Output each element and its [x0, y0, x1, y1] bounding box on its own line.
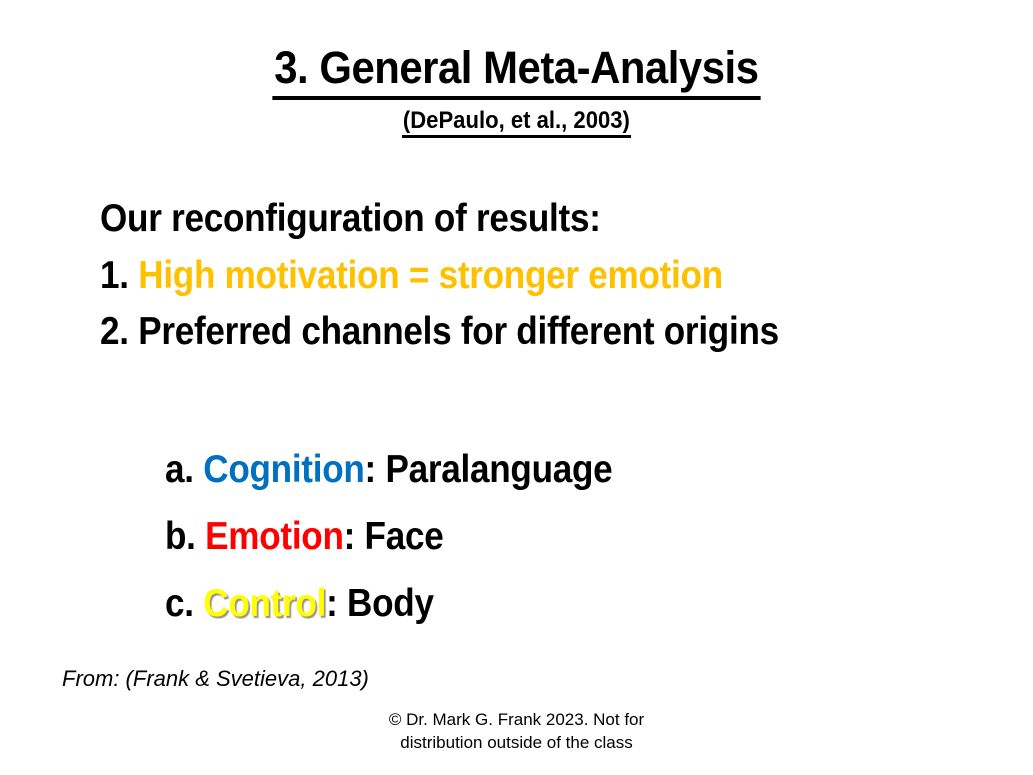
copyright-line-1: © Dr. Mark G. Frank 2023. Not for: [0, 708, 1033, 731]
list-item-1-marker: 1.: [100, 254, 129, 297]
list-item-1-inner: 1. High motivation = stronger emotion: [100, 247, 723, 304]
space: [194, 582, 203, 625]
subitem-c-inner: c. Control: Body: [165, 570, 434, 637]
subitem-b-highlight: Emotion: [205, 515, 344, 558]
slide-subitems: a. Cognition: Paralanguage b. Emotion: F…: [165, 436, 1005, 637]
list-item: b. Emotion: Face: [165, 503, 1005, 570]
subitem-c-marker: c.: [165, 582, 194, 625]
space: [196, 515, 205, 558]
slide-subtitle-citation: (DePaulo, et al., 2003): [402, 108, 631, 138]
space: [129, 310, 138, 353]
body-intro-line: Our reconfiguration of results:: [100, 190, 1000, 247]
list-item: a. Cognition: Paralanguage: [165, 436, 1005, 503]
list-item: 1. High motivation = stronger emotion: [100, 247, 1000, 304]
subitem-a-rest: Paralanguage: [376, 448, 612, 491]
slide-canvas: 3. General Meta-Analysis (DePaulo, et al…: [0, 0, 1033, 775]
subitem-a-highlight: Cognition: [203, 448, 364, 491]
list-item: 2. Preferred channels for different orig…: [100, 304, 890, 360]
body-intro-text: Our reconfiguration of results:: [100, 190, 601, 247]
list-item-2-marker: 2.: [100, 310, 129, 353]
subitem-b-inner: b. Emotion: Face: [165, 503, 443, 570]
subitem-a-inner: a. Cognition: Paralanguage: [165, 436, 612, 503]
subitem-c-highlight: Control: [203, 582, 326, 625]
space: [129, 254, 138, 297]
slide-subtitle-container: (DePaulo, et al., 2003): [0, 108, 1033, 138]
copyright-line-2: distribution outside of the class: [0, 731, 1033, 754]
copyright-notice: © Dr. Mark G. Frank 2023. Not for distri…: [0, 708, 1033, 754]
slide-header: 3. General Meta-Analysis (DePaulo, et al…: [0, 42, 1033, 138]
subitem-a-marker: a.: [165, 448, 194, 491]
slide-title: 3. General Meta-Analysis: [272, 42, 760, 100]
slide-body: Our reconfiguration of results: 1. High …: [100, 190, 1000, 360]
list-item-2-inner: 2. Preferred channels for different orig…: [100, 304, 811, 360]
subitem-a-separator: :: [365, 448, 376, 491]
subitem-c-rest: Body: [338, 582, 434, 625]
list-item-2-text: Preferred channels for different origins: [138, 310, 779, 353]
subitem-c-separator: :: [326, 582, 337, 625]
subitem-b-marker: b.: [165, 515, 196, 558]
source-attribution: From: (Frank & Svetieva, 2013): [62, 666, 369, 692]
list-item: c. Control: Body: [165, 570, 1005, 637]
list-item-1-text: High motivation = stronger emotion: [138, 254, 723, 297]
space: [194, 448, 203, 491]
subitem-b-separator: :: [344, 515, 355, 558]
subitem-b-rest: Face: [355, 515, 443, 558]
